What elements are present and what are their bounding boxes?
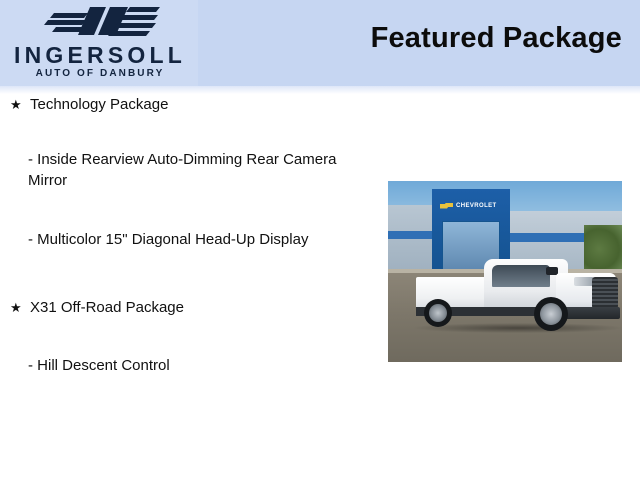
package-heading-label: Technology Package — [30, 96, 168, 113]
package-feature-item: - Multicolor 15" Diagonal Head-Up Displa… — [0, 229, 380, 250]
feature-group: ★ X31 Off-Road Package - Hill Descent Co… — [0, 298, 380, 376]
dealer-logo-block[interactable]: INGERSOLL AUTO OF DANBURY — [0, 0, 198, 86]
package-feature-item: - Hill Descent Control — [0, 355, 380, 376]
package-feature-item: - Inside Rearview Auto-Dimming Rear Came… — [0, 149, 380, 191]
feature-group: ★ Technology Package - Inside Rearview A… — [0, 95, 380, 250]
photo-dealer-sign: CHEVROLET — [440, 198, 502, 213]
ingersoll-winged-emblem-icon — [44, 3, 160, 39]
truck-grille — [592, 277, 618, 309]
dealer-sign-label: CHEVROLET — [456, 203, 497, 209]
chevrolet-bowtie-icon — [440, 203, 453, 209]
header-fade-divider — [0, 86, 640, 94]
star-bullet-icon: ★ — [10, 95, 22, 115]
spacer — [0, 115, 380, 149]
package-heading: ★ Technology Package — [0, 95, 380, 115]
truck-headlight — [574, 277, 594, 286]
spacer — [0, 191, 380, 229]
package-heading: ★ X31 Off-Road Package — [0, 298, 380, 318]
star-bullet-icon: ★ — [10, 298, 22, 318]
truck-front-bumper — [564, 307, 620, 319]
page-title: Featured Package — [371, 22, 622, 55]
photo-trees — [584, 225, 622, 273]
dealer-wordmark: INGERSOLL — [7, 44, 193, 67]
spacer — [0, 318, 380, 355]
truck-front-wheel — [534, 297, 568, 331]
truck-window — [492, 265, 550, 287]
spacer — [0, 250, 380, 298]
dealer-subwordmark: AUTO OF DANBURY — [7, 69, 193, 79]
vehicle-photo: CHEVROLET — [388, 181, 622, 362]
truck-rear-wheel — [424, 299, 452, 327]
feature-list: ★ Technology Package - Inside Rearview A… — [0, 95, 380, 376]
package-heading-label: X31 Off-Road Package — [30, 299, 184, 316]
